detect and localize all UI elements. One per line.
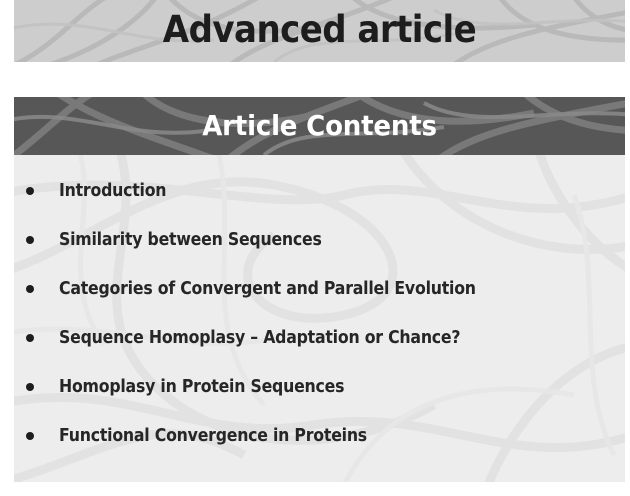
list-item-label: Categories of Convergent and Parallel Ev… [59, 279, 476, 299]
list-item-label: Sequence Homoplasy – Adaptation or Chanc… [59, 328, 460, 348]
list-item-label: Introduction [59, 181, 166, 201]
list-item-label: Similarity between Sequences [59, 230, 322, 250]
bullet-icon [26, 187, 34, 195]
page-title: Advanced article [38, 0, 600, 62]
bullet-icon [26, 432, 34, 440]
banner-separator [0, 62, 630, 97]
list-item[interactable]: Introduction [14, 176, 625, 206]
list-item-label: Functional Convergence in Proteins [59, 426, 367, 446]
list-item-label: Homoplasy in Protein Sequences [59, 377, 344, 397]
article-contents-header: Article Contents [14, 97, 625, 155]
list-item[interactable]: Similarity between Sequences [14, 225, 625, 255]
article-contents-body: Introduction Similarity between Sequence… [14, 155, 625, 482]
article-contents-page: Advanced article Article Contents [0, 0, 630, 496]
list-item[interactable]: Sequence Homoplasy – Adaptation or Chanc… [14, 323, 625, 353]
bullet-icon [26, 383, 34, 391]
list-item[interactable]: Functional Convergence in Proteins [14, 421, 625, 451]
bullet-icon [26, 285, 34, 293]
bullet-icon [26, 334, 34, 342]
article-contents-title: Article Contents [35, 97, 603, 155]
advanced-article-banner: Advanced article [14, 0, 625, 62]
bullet-icon [26, 236, 34, 244]
list-item[interactable]: Homoplasy in Protein Sequences [14, 372, 625, 402]
article-contents-list: Introduction Similarity between Sequence… [14, 155, 625, 482]
list-item[interactable]: Categories of Convergent and Parallel Ev… [14, 274, 625, 304]
